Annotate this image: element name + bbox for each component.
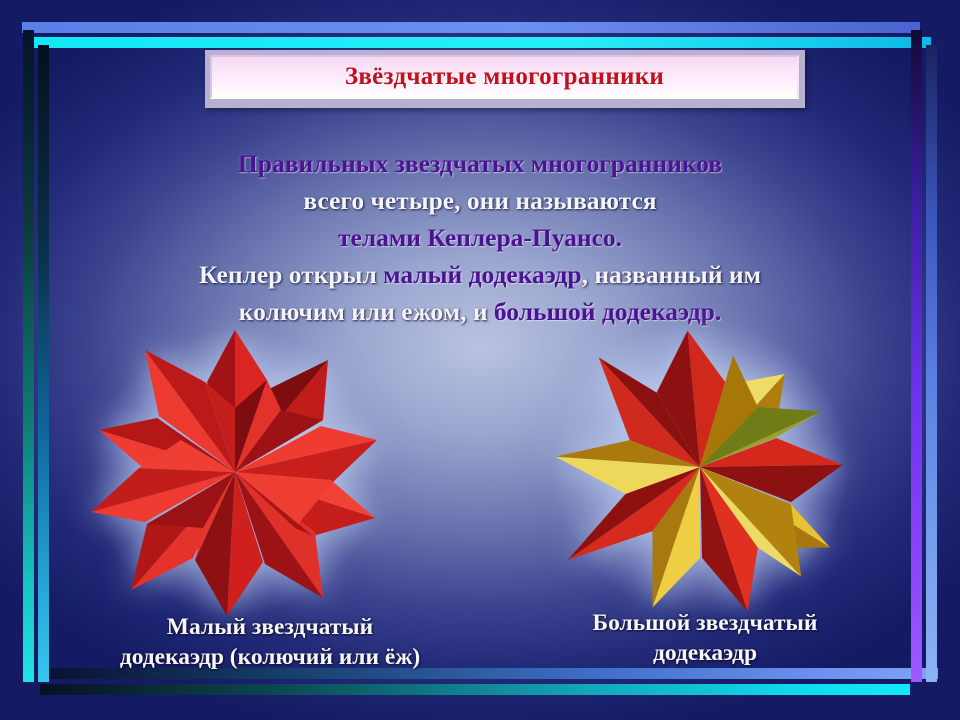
body-segment: Правильных звездчатых многогранников xyxy=(238,149,722,178)
body-segment: всего четыре, они называются xyxy=(303,186,656,215)
slide-title: Звёздчатые многогранники xyxy=(345,63,664,91)
small-stellated-dodecahedron-icon xyxy=(70,322,400,622)
body-segment-highlight: малый додекаэдр xyxy=(383,260,581,289)
body-segment: , названный им xyxy=(582,260,761,289)
slide-title-plaque: Звёздчатые многогранники xyxy=(205,50,805,108)
body-segment: телами Кеплера-Пуансо. xyxy=(338,223,622,252)
frame-bar-left-teal xyxy=(23,30,34,682)
caption-line: додекаэдр (колючий или ёж) xyxy=(40,642,500,672)
body-segment: Кеплер открыл xyxy=(199,260,383,289)
slide-title-plaque-inner: Звёздчатые многогранники xyxy=(210,55,799,99)
small-stellated-dodecahedron-figure xyxy=(70,322,400,622)
body-line-1: Правильных звездчатых многогранников xyxy=(50,145,910,182)
presentation-slide: Звёздчатые многогранники Правильных звез… xyxy=(0,0,960,720)
great-stellated-dodecahedron-figure xyxy=(540,312,860,622)
body-line-4: Кеплер открыл малый додекаэдр, названный… xyxy=(50,256,910,293)
body-line-2: всего четыре, они называются xyxy=(50,182,910,219)
great-stellated-dodecahedron-caption: Большой звездчатый додекаэдр xyxy=(505,608,905,668)
frame-bar-top-blue xyxy=(22,22,920,33)
body-paragraph: Правильных звездчатых многогранников все… xyxy=(50,145,910,330)
frame-bar-right-blue xyxy=(926,45,937,682)
small-stellated-dodecahedron-caption: Малый звездчатый додекаэдр (колючий или … xyxy=(40,612,500,672)
caption-line: Малый звездчатый xyxy=(40,612,500,642)
frame-bar-top-cyan xyxy=(33,37,931,48)
caption-line: додекаэдр xyxy=(505,638,905,668)
frame-bar-right-violet xyxy=(911,30,922,682)
frame-bar-left-blue xyxy=(38,45,49,682)
frame-bar-bottom-cyan xyxy=(40,684,910,695)
great-stellated-dodecahedron-icon xyxy=(540,312,860,622)
body-line-3: телами Кеплера-Пуансо. xyxy=(50,219,910,256)
caption-line: Большой звездчатый xyxy=(505,608,905,638)
